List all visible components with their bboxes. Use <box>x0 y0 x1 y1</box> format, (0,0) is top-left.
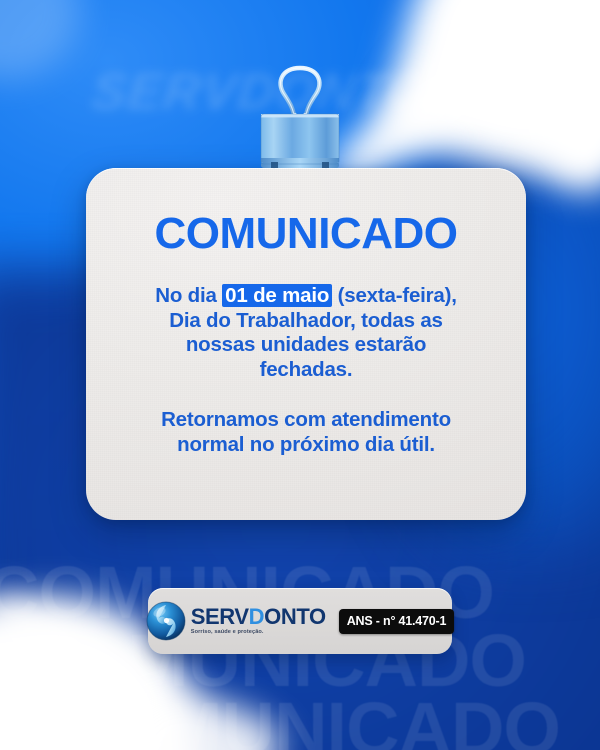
highlighted-date: 01 de maio <box>222 284 332 307</box>
brand-wordmark: SERVDONTO <box>191 606 326 628</box>
communication-poster: SERVDONTO COMUNICADO COMUNICADO COMUNICA… <box>0 0 600 750</box>
servdonto-sphere-logo-icon <box>146 601 186 641</box>
brand-suffix: ONTO <box>264 604 326 629</box>
paragraph1-lead: No dia <box>155 284 222 307</box>
page-title: COMUNICADO <box>114 212 498 256</box>
ans-registration-badge: ANS - n° 41.470-1 <box>339 609 455 634</box>
paragraph1-line4: fechadas. <box>260 358 353 381</box>
notice-paragraph-closure: No dia 01 de maio (sexta-feira), Dia do … <box>114 284 498 382</box>
notice-card: COMUNICADO No dia 01 de maio (sexta-feir… <box>86 168 526 520</box>
paragraph1-line3: nossas unidades estarão <box>186 333 426 356</box>
notice-paragraph-return: Retornamos com atendimento normal no pró… <box>114 408 498 457</box>
paragraph1-line2: Dia do Trabalhador, todas as <box>169 309 443 332</box>
brand-tagline: Sorriso, saúde e proteção. <box>191 630 326 636</box>
brand-text: SERVDONTO Sorriso, saúde e proteção. <box>191 606 326 636</box>
brand-accent-letter: D <box>249 604 265 629</box>
paragraph1-rest: (sexta-feira), <box>332 284 457 307</box>
paragraph2-line1: Retornamos com atendimento <box>161 408 451 431</box>
footer-brand-bar: SERVDONTO Sorriso, saúde e proteção. ANS… <box>148 588 452 654</box>
brand-lockup: SERVDONTO Sorriso, saúde e proteção. <box>146 601 326 641</box>
paragraph2-line2: normal no próximo dia útil. <box>177 433 435 456</box>
binder-clip-icon <box>252 62 348 178</box>
brand-prefix: SERV <box>191 604 249 629</box>
